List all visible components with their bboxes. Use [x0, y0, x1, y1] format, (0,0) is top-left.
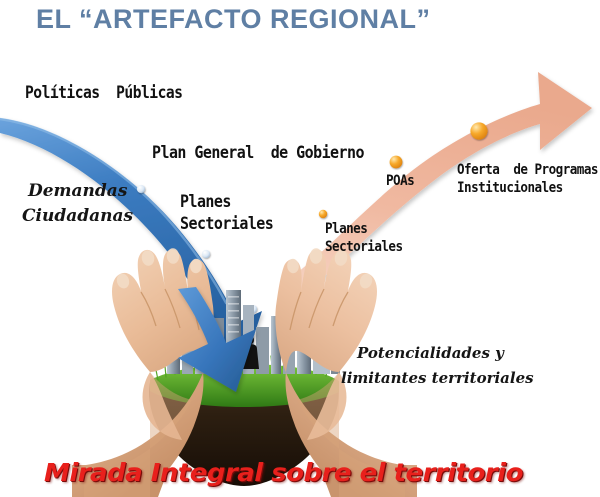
- label-demandas-ciudadanas-line1: Demandas: [28, 180, 127, 202]
- label-politicas-publicas: Políticas Públicas: [25, 84, 182, 102]
- label-demandas-ciudadanas-line2: Ciudadanas: [22, 205, 133, 227]
- label-planes-sectoriales-right-line1: Planes: [325, 222, 367, 237]
- label-planes-sectoriales-right-line2: Sectoriales: [325, 240, 403, 255]
- label-potencialidades-line2: limitantes territoriales: [341, 369, 534, 389]
- label-planes-sectoriales-left-line1: Planes: [180, 193, 231, 211]
- page-title: El “artefacto regional”: [36, 4, 476, 35]
- label-potencialidades-line1: Potencialidades y: [357, 344, 504, 364]
- bottom-banner-text: Mirada Integral sobre el territorio: [44, 458, 523, 487]
- diagram-artwork: [0, 0, 600, 497]
- label-oferta-programas-line2: Institucionales: [457, 181, 563, 196]
- label-plan-general-de-gobierno: Plan General de Gobierno: [152, 144, 364, 162]
- label-oferta-programas-line1: Oferta de Programas: [457, 163, 598, 178]
- label-planes-sectoriales-left-line2: Sectoriales: [180, 215, 273, 233]
- slide-canvas: El “artefacto regional” Políticas Públic…: [0, 0, 600, 497]
- label-poas: POAs: [386, 174, 414, 189]
